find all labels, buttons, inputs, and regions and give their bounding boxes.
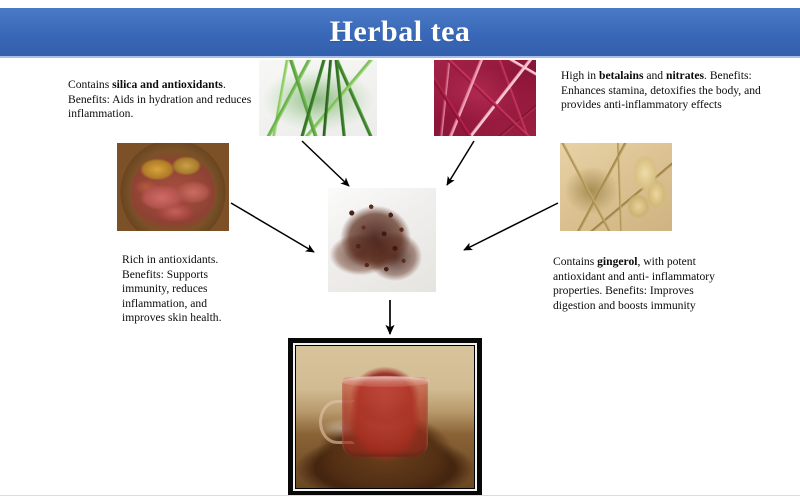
caption-ginger: Contains gingerol, with potent antioxida… bbox=[553, 255, 718, 313]
green-herb-strips-photo bbox=[259, 60, 377, 136]
arrow-grass-to-blend bbox=[302, 141, 349, 186]
ginger-root-photo bbox=[560, 143, 672, 231]
frame-inner-mat bbox=[293, 343, 477, 491]
mug-rim bbox=[341, 376, 430, 387]
footer-divider bbox=[0, 495, 800, 496]
slide-canvas: Herbal tea Contains silica and antioxida… bbox=[0, 0, 800, 500]
brewed-herbal-tea-glass-mug-photo bbox=[296, 346, 474, 488]
caption-grass: Contains silica and antioxidants. Benefi… bbox=[68, 78, 258, 122]
dried-hibiscus-in-wooden-bowl-photo bbox=[117, 143, 229, 231]
sliced-beetroot-photo bbox=[434, 60, 536, 136]
caption-hibiscus: Rich in antioxidants. Benefits: Supports… bbox=[122, 253, 252, 326]
dried-tea-blend-on-plate-photo bbox=[328, 188, 436, 292]
arrow-beet-to-blend bbox=[447, 141, 474, 185]
arrow-hibiscus-to-blend bbox=[231, 203, 314, 252]
arrow-ginger-to-blend bbox=[464, 203, 558, 250]
tea-cup-photo-frame bbox=[288, 338, 482, 496]
caption-beet: High in betalains and nitrates. Benefits… bbox=[561, 69, 761, 113]
mug-body bbox=[342, 377, 427, 457]
